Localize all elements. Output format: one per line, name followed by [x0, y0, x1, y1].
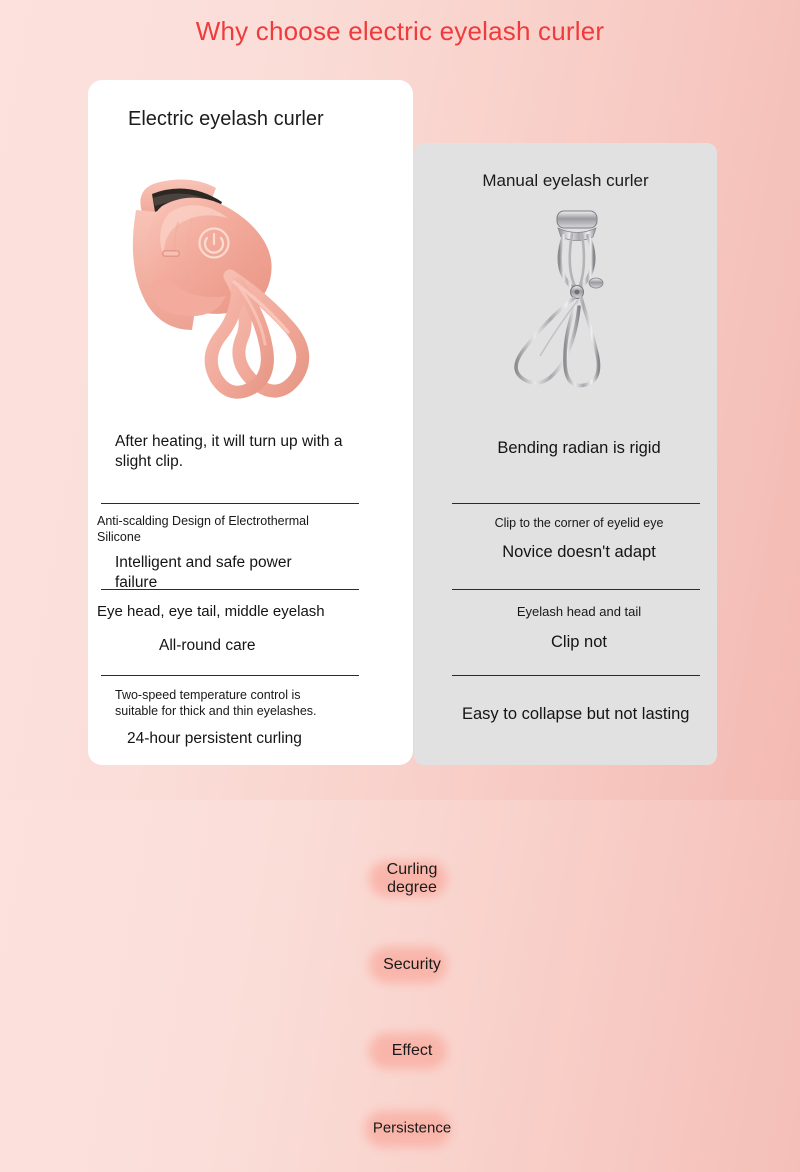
row-left-cell: Two-speed temperature control is suitabl… — [97, 676, 365, 772]
row-left-cell: After heating, it will turn up with a sl… — [97, 418, 365, 504]
row-right-cell: Easy to collapse but not lasting — [448, 676, 710, 772]
badge-effect: Effect — [363, 1008, 455, 1094]
badge-label: Persistence — [363, 1121, 461, 1138]
row-right-cell: Eyelash head and tail Clip not — [448, 590, 710, 676]
row-right-text: Clip not — [448, 620, 710, 653]
row-left-caption: Two-speed temperature control is suitabl… — [97, 676, 333, 719]
row-left-caption: Anti-scalding Design of Electrothermal S… — [97, 504, 343, 545]
badge-label: Curling degree — [363, 861, 461, 897]
page-title: Why choose electric eyelash curler — [0, 16, 800, 47]
row-left-text: 24-hour persistent curling — [97, 719, 365, 749]
row-right-caption: Clip to the corner of eyelid eye — [448, 504, 710, 532]
manual-curler-heading: Manual eyelash curler — [414, 171, 717, 191]
row-left-caption: Eye head, eye tail, middle eyelash — [97, 590, 365, 622]
badge-security: Security — [363, 922, 455, 1008]
electric-curler-heading: Electric eyelash curler — [128, 108, 324, 131]
row-left-text: All-round care — [97, 622, 365, 656]
electric-eyelash-curler-image — [106, 158, 396, 438]
row-left-cell: Eye head, eye tail, middle eyelash All-r… — [97, 590, 365, 676]
row-right-text: Novice doesn't adapt — [448, 532, 710, 563]
row-left-text: Intelligent and safe power failure — [97, 545, 333, 593]
comparison-row: Eye head, eye tail, middle eyelash All-r… — [0, 590, 800, 676]
comparison-row: Two-speed temperature control is suitabl… — [0, 676, 800, 772]
row-right-cell: Bending radian is rigid — [448, 418, 710, 504]
badge-persistence: Persistence — [363, 1086, 455, 1172]
row-right-text: Bending radian is rigid — [448, 418, 710, 459]
row-right-text: Easy to collapse but not lasting — [448, 676, 710, 725]
row-left-cell: Anti-scalding Design of Electrothermal S… — [97, 504, 365, 590]
comparison-row: After heating, it will turn up with a sl… — [0, 418, 800, 504]
badge-curling-degree: Curling degree — [363, 836, 455, 922]
infographic-root: Why choose electric eyelash curler Manua… — [0, 0, 800, 800]
row-right-caption: Eyelash head and tail — [448, 590, 710, 620]
badge-label: Effect — [363, 1042, 461, 1060]
comparison-row: Anti-scalding Design of Electrothermal S… — [0, 504, 800, 590]
row-right-cell: Clip to the corner of eyelid eye Novice … — [448, 504, 710, 590]
manual-eyelash-curler-image — [484, 201, 649, 416]
badge-label: Security — [363, 956, 461, 974]
row-left-text: After heating, it will turn up with a sl… — [97, 418, 365, 472]
comparison-rows: After heating, it will turn up with a sl… — [0, 418, 800, 778]
